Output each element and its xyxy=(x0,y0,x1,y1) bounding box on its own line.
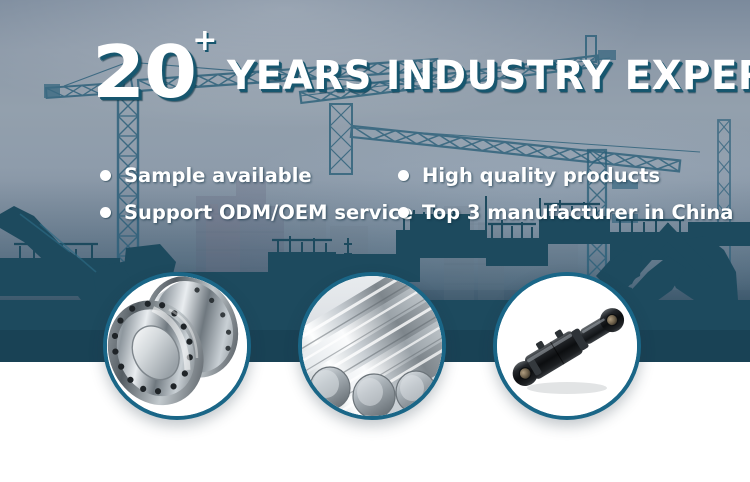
bullet-dot-icon xyxy=(100,170,111,181)
headline: 20 + YEARS INDUSTRY EXPERIENCE xyxy=(92,44,750,100)
flanged-pipe-image xyxy=(107,276,247,416)
bullet-dot-icon xyxy=(100,207,111,218)
bullet-dot-icon xyxy=(398,170,409,181)
feature-label: Top 3 manufacturer in China xyxy=(422,201,733,224)
steel-bars-image xyxy=(302,276,442,416)
feature-label: High quality products xyxy=(422,164,660,187)
bullet-dot-icon xyxy=(398,207,409,218)
industry-experience-banner: 20 + YEARS INDUSTRY EXPERIENCE Sample av… xyxy=(0,0,750,482)
list-item: Support ODM/OEM service xyxy=(100,197,413,227)
feature-list-left: Sample available Support ODM/OEM service xyxy=(100,160,413,234)
headline-number: 20 xyxy=(92,44,196,100)
list-item: Sample available xyxy=(100,160,413,190)
list-item: High quality products xyxy=(398,160,733,190)
feature-label: Support ODM/OEM service xyxy=(124,201,413,224)
product-circle-flanged-pipe[interactable] xyxy=(103,272,251,420)
feature-label: Sample available xyxy=(124,164,312,187)
product-circle-steel-bars[interactable] xyxy=(298,272,446,420)
headline-text: YEARS INDUSTRY EXPERIENCE xyxy=(227,56,750,96)
hydraulic-cylinder-image xyxy=(497,276,637,416)
product-circle-hydraulic-cylinder[interactable] xyxy=(493,272,641,420)
list-item: Top 3 manufacturer in China xyxy=(398,197,733,227)
feature-list-right: High quality products Top 3 manufacturer… xyxy=(398,160,733,234)
headline-plus-superscript: + xyxy=(192,23,217,58)
